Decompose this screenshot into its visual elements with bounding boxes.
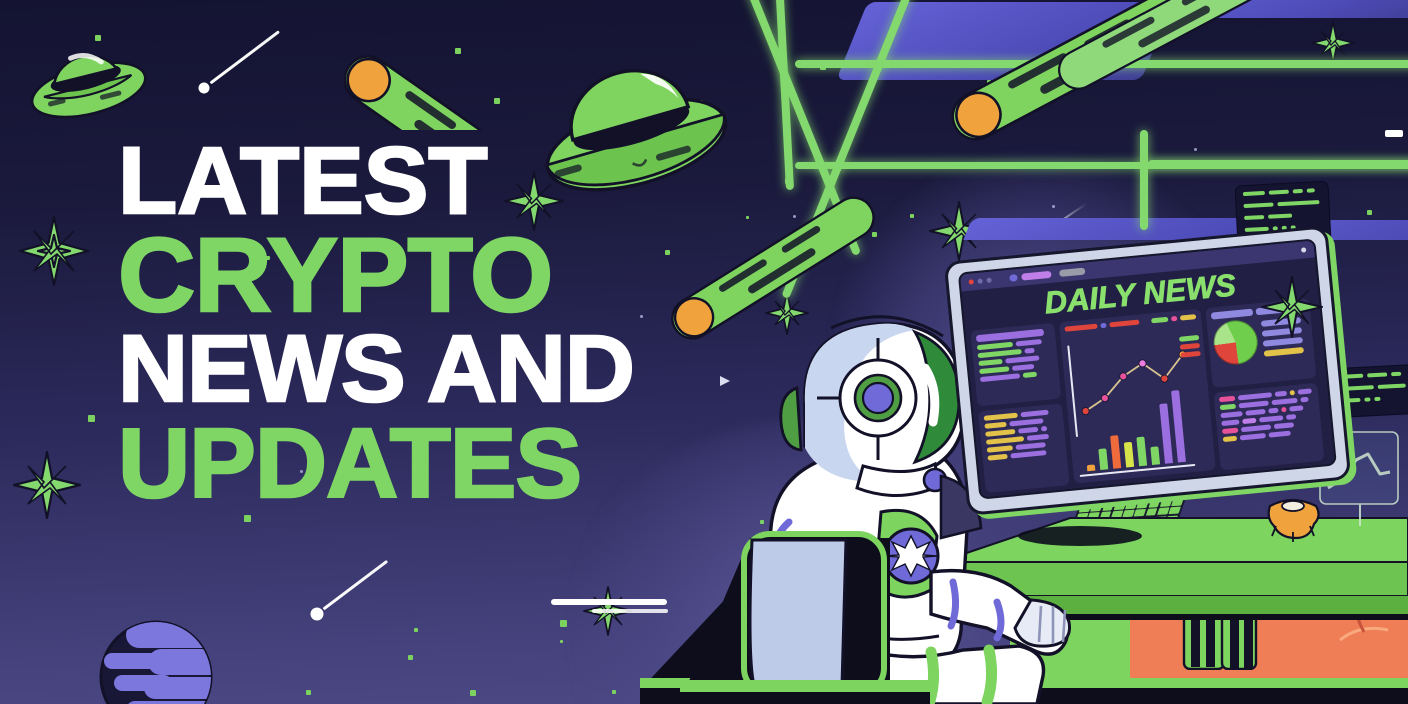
headline-line-4: UPDATES <box>118 422 634 504</box>
comet-top-left <box>330 0 560 130</box>
star-dot <box>470 690 476 696</box>
browser-tab-inactive[interactable] <box>1059 268 1086 277</box>
star-dot <box>408 655 413 660</box>
bar-chart-bar <box>1098 448 1108 470</box>
sparkle-icon <box>1260 275 1324 339</box>
ufo-small-icon <box>22 28 152 133</box>
star-dot <box>560 620 567 627</box>
sparkle-icon <box>18 215 90 287</box>
browser-dot-gray[interactable] <box>977 278 982 283</box>
stats-card-bottom-left[interactable] <box>978 403 1069 493</box>
comet-far-right <box>1050 0 1350 110</box>
monitor[interactable]: DAILY NEWS <box>944 225 1352 516</box>
line-chart-marker <box>1139 359 1147 367</box>
star-dot <box>88 415 95 422</box>
line-chart-marker <box>1101 394 1109 402</box>
bar-chart-bar <box>1110 435 1121 469</box>
line-chart-marker <box>1082 407 1090 415</box>
headline-line-3: NEWS AND <box>118 330 634 410</box>
list-card[interactable] <box>1213 383 1324 471</box>
headline-line-2: CRYPTO <box>118 232 634 320</box>
browser-dot-gray[interactable] <box>986 278 991 283</box>
bar-chart-bar <box>1150 447 1160 465</box>
star-dot-faint <box>640 315 643 318</box>
headline-line-1: LATEST <box>118 142 634 222</box>
banner-canvas: LATEST CRYPTO NEWS AND UPDATES <box>0 0 1408 704</box>
star-dot <box>306 690 311 695</box>
page-title: LATEST CRYPTO NEWS AND UPDATES <box>118 142 624 504</box>
bar-chart-bar <box>1087 465 1096 472</box>
hull-frame-line <box>1148 160 1408 168</box>
orange-badge <box>1262 494 1324 547</box>
chart-card[interactable] <box>1059 309 1216 484</box>
chart-side-legend <box>1179 335 1201 358</box>
sparkle-icon <box>12 450 82 520</box>
browser-tab-active[interactable] <box>1021 271 1052 281</box>
stats-card-top-left[interactable] <box>970 323 1061 407</box>
dashboard-left-column <box>970 323 1069 493</box>
bar-chart-bar <box>1124 441 1134 467</box>
line-chart-marker <box>1161 375 1169 383</box>
star-dot <box>560 640 563 643</box>
pilot-chair <box>680 498 930 704</box>
tab-indicator[interactable] <box>1009 274 1018 282</box>
star-dot <box>612 690 616 694</box>
bar-chart-bar <box>1136 436 1147 466</box>
pie-chart <box>1212 318 1260 366</box>
streak-arrow <box>720 376 730 386</box>
planet-banded <box>96 617 216 704</box>
star-dot <box>414 628 418 632</box>
browser-menu-dot[interactable] <box>1301 247 1306 252</box>
line-chart-marker <box>1119 372 1127 380</box>
browser-dot-red[interactable] <box>968 279 973 284</box>
window-highlight <box>1385 130 1403 137</box>
